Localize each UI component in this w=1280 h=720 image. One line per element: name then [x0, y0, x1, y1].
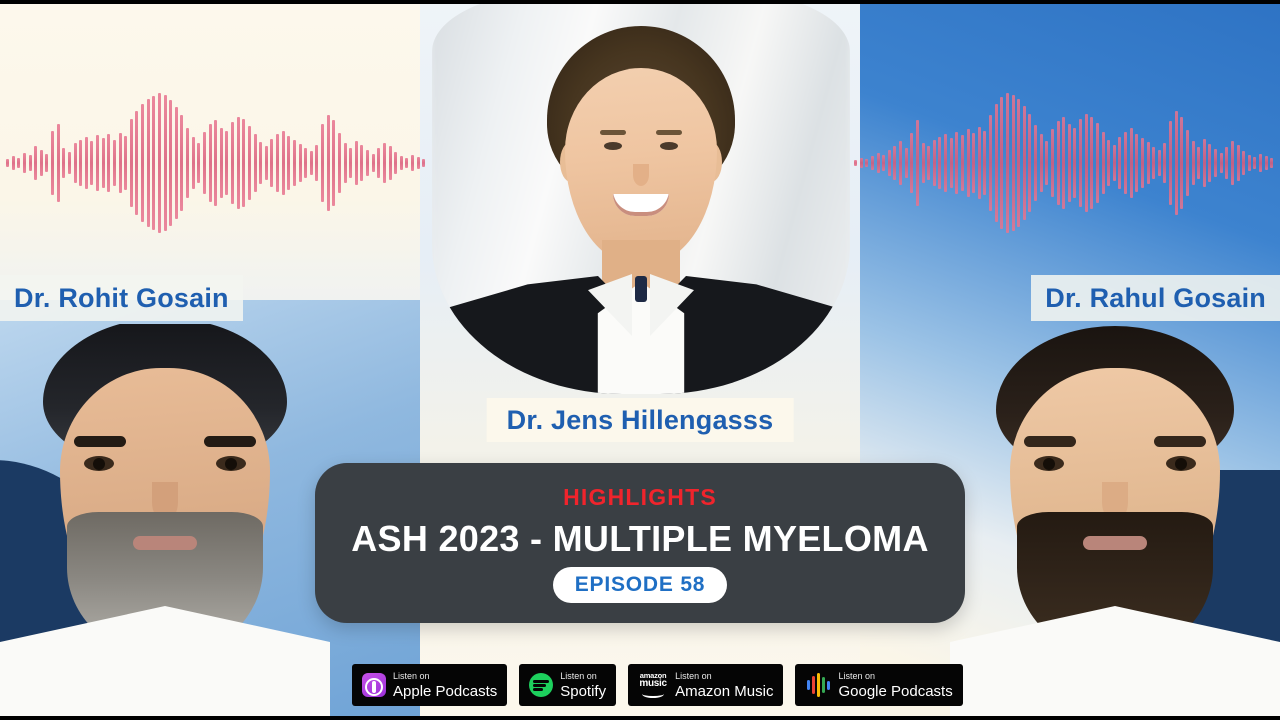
platform-name: Google Podcasts [838, 684, 952, 699]
waveform-bar [899, 141, 902, 185]
waveform-bar [916, 120, 919, 206]
waveform-bar [254, 134, 257, 192]
waveform-bar [389, 146, 392, 180]
waveform-bar [1023, 106, 1026, 220]
waveform-bar [57, 124, 60, 202]
waveform-bar [1270, 158, 1273, 168]
waveform-bar [1253, 157, 1256, 169]
listen-on-badges: Listen on Apple Podcasts Listen on Spoti… [352, 664, 963, 706]
waveform-bar [338, 133, 341, 193]
waveform-bar [141, 104, 144, 222]
waveform-bar [1259, 154, 1262, 172]
speaker-photo-right [950, 324, 1280, 720]
waveform-bar [40, 150, 43, 176]
waveform-bar [186, 128, 189, 198]
waveform-bar [1034, 125, 1037, 201]
waveform-bar [972, 133, 975, 193]
waveform-bar [1057, 121, 1060, 205]
waveform-bar [955, 132, 958, 194]
waveform-bar [270, 139, 273, 187]
waveform-bar [203, 132, 206, 194]
speaker-name-left: Dr. Rohit Gosain [0, 275, 243, 321]
amazon-music-icon: amazon music [638, 672, 668, 699]
apple-podcasts-icon [362, 673, 386, 697]
waveform-bar [1158, 150, 1161, 176]
episode-title-card: HIGHLIGHTS ASH 2023 - MULTIPLE MYELOMA E… [315, 463, 965, 623]
waveform-bar [383, 143, 386, 183]
waveform-bar [1102, 132, 1105, 194]
eyebrow-right [1154, 436, 1206, 447]
tie [635, 276, 647, 302]
waveform-bar [1163, 143, 1166, 183]
waveform-bar [400, 156, 403, 170]
waveform-bar [287, 136, 290, 190]
waveform-bar [1040, 134, 1043, 192]
amazon-smile-swoosh [642, 690, 664, 698]
waveform-bar [1085, 114, 1088, 212]
waveform-bar [888, 150, 891, 176]
mouth [1083, 536, 1147, 550]
platform-name: Apple Podcasts [393, 684, 497, 699]
waveform-bar [349, 148, 352, 178]
waveform-bar [135, 111, 138, 215]
waveform-bar [231, 122, 234, 204]
google-podcasts-badge[interactable]: Listen on Google Podcasts [795, 664, 962, 706]
eye-right [660, 142, 678, 150]
waveform-bar [372, 154, 375, 172]
waveform-bar [293, 140, 296, 186]
speaker-name-center: Dr. Jens Hillengasss [487, 398, 794, 442]
waveform-bar [1197, 147, 1200, 179]
waveform-bar [1175, 111, 1178, 215]
amazon-music-badge[interactable]: amazon music Listen on Amazon Music [628, 664, 783, 706]
waveform-bar [394, 152, 397, 174]
eye-right [1166, 456, 1196, 471]
waveform-bar [310, 151, 313, 175]
waveform-bar [1231, 141, 1234, 185]
waveform-bar [893, 146, 896, 180]
waveform-bar [164, 95, 167, 231]
waveform-bar [927, 146, 930, 180]
waveform-bar [922, 143, 925, 183]
waveform-bar [1113, 145, 1116, 181]
waveform-bar [74, 143, 77, 183]
waveform-bar [422, 159, 425, 167]
waveform-bar [877, 153, 880, 173]
waveform-bar [417, 157, 420, 169]
eye-left [1034, 456, 1064, 471]
waveform-bar [967, 129, 970, 197]
waveform-bar [147, 99, 150, 227]
waveform-bar [1130, 128, 1133, 198]
waveform-bar [6, 159, 9, 167]
waveform-bar [29, 155, 32, 171]
waveform-bar [220, 128, 223, 198]
waveform-bar [12, 156, 15, 170]
waveform-bar [983, 131, 986, 195]
waveform-bar [68, 152, 71, 174]
audio-waveform-right [854, 88, 1274, 238]
waveform-bar [299, 144, 302, 182]
waveform-bar [1006, 93, 1009, 233]
letterbox-bar-top [0, 0, 1280, 4]
amazon-logo-line2: music [639, 679, 666, 689]
waveform-bar [107, 134, 110, 192]
waveform-bar [405, 158, 408, 168]
eye-left [604, 142, 622, 150]
waveform-bar [1079, 119, 1082, 207]
spotify-badge[interactable]: Listen on Spotify [519, 664, 616, 706]
waveform-bar [1192, 141, 1195, 185]
speaker-photo-center [432, 0, 850, 394]
waveform-bar [989, 115, 992, 211]
waveform-bar [214, 120, 217, 206]
waveform-bar [282, 131, 285, 195]
waveform-bar [259, 142, 262, 184]
waveform-bar [882, 155, 885, 171]
waveform-bar [79, 140, 82, 186]
nose [633, 164, 649, 186]
waveform-bar [1096, 123, 1099, 203]
waveform-bar [1152, 147, 1155, 179]
waveform-bar [1237, 145, 1240, 181]
waveform-bar [854, 160, 857, 166]
listen-on-label: Listen on [838, 672, 952, 681]
waveform-bar [1135, 134, 1138, 192]
waveform-bar [1118, 137, 1121, 189]
spotify-icon [529, 673, 553, 697]
waveform-bar [62, 148, 65, 178]
waveform-bar [1000, 97, 1003, 229]
waveform-bar [905, 148, 908, 178]
waveform-bar [1124, 132, 1127, 194]
waveform-bar [860, 158, 863, 168]
waveform-bar [1208, 144, 1211, 182]
waveform-bar [85, 137, 88, 189]
episode-badge: EPISODE 58 [553, 567, 728, 603]
waveform-bar [158, 93, 161, 233]
mouth [133, 536, 197, 550]
waveform-bar [950, 138, 953, 188]
waveform-bar [938, 137, 941, 189]
waveform-bar [119, 133, 122, 193]
waveform-bar [332, 120, 335, 206]
page-title: ASH 2023 - MULTIPLE MYELOMA [351, 518, 929, 560]
waveform-bar [411, 155, 414, 171]
waveform-bar [377, 148, 380, 178]
waveform-bar [978, 127, 981, 199]
waveform-bar [321, 124, 324, 202]
waveform-bar [124, 136, 127, 190]
waveform-bar [304, 148, 307, 178]
waveform-bar [871, 156, 874, 170]
waveform-bar [1242, 151, 1245, 175]
waveform-bar [180, 115, 183, 211]
letterbox-bar-bottom [0, 716, 1280, 720]
waveform-bar [242, 119, 245, 207]
waveform-bar [1248, 155, 1251, 171]
waveform-bar [276, 134, 279, 192]
highlights-eyebrow: HIGHLIGHTS [563, 484, 717, 511]
waveform-bar [1028, 114, 1031, 212]
dress-shirt [950, 606, 1280, 720]
podcast-thumbnail: Dr. Rohit Gosain Dr. Jens Hillengasss Dr… [0, 0, 1280, 720]
waveform-bar [1220, 153, 1223, 173]
listen-on-label: Listen on [393, 672, 497, 681]
waveform-bar [344, 143, 347, 183]
listen-on-label: Listen on [675, 672, 773, 681]
waveform-bar [23, 153, 26, 173]
platform-name: Amazon Music [675, 684, 773, 699]
waveform-bar [113, 140, 116, 186]
waveform-bar [34, 146, 37, 180]
waveform-bar [265, 146, 268, 180]
waveform-bar [130, 119, 133, 207]
waveform-bar [910, 133, 913, 193]
waveform-bar [225, 131, 228, 195]
waveform-bar [1141, 138, 1144, 188]
waveform-bar [1147, 142, 1150, 184]
waveform-bar [1051, 129, 1054, 197]
waveform-bar [17, 158, 20, 168]
google-podcasts-icon [805, 673, 831, 697]
waveform-bar [1017, 99, 1020, 227]
waveform-bar [96, 135, 99, 191]
waveform-bar [360, 145, 363, 181]
waveform-bar [152, 96, 155, 230]
waveform-bar [1180, 117, 1183, 209]
waveform-bar [961, 135, 964, 191]
waveform-bar [315, 145, 318, 181]
waveform-bar [90, 141, 93, 185]
waveform-bar [1107, 140, 1110, 186]
waveform-bar [1068, 124, 1071, 202]
waveform-bar [1225, 147, 1228, 179]
waveform-bar [102, 138, 105, 188]
waveform-bar [45, 154, 48, 172]
speaker-photo-left [0, 324, 330, 720]
waveform-bar [248, 126, 251, 200]
waveform-bar [1169, 121, 1172, 205]
listen-on-label: Listen on [560, 672, 606, 681]
speaker-name-right: Dr. Rahul Gosain [1031, 275, 1280, 321]
waveform-bar [1265, 156, 1268, 170]
waveform-bar [1073, 128, 1076, 198]
waveform-bar [197, 143, 200, 183]
eyebrow-right [656, 130, 682, 135]
waveform-bar [1012, 95, 1015, 231]
waveform-bar [366, 150, 369, 176]
eyebrow-left [1024, 436, 1076, 447]
waveform-bar [1045, 141, 1048, 185]
waveform-bar [933, 140, 936, 186]
waveform-bar [1062, 117, 1065, 209]
waveform-bar [944, 134, 947, 192]
eyebrow-left [600, 130, 626, 135]
eye-right [216, 456, 246, 471]
waveform-bar [237, 117, 240, 209]
eyebrow-left [74, 436, 126, 447]
eye-left [84, 456, 114, 471]
waveform-bar [175, 107, 178, 219]
waveform-bar [1090, 117, 1093, 209]
waveform-bar [192, 137, 195, 189]
audio-waveform-left [6, 88, 426, 238]
dress-shirt [0, 606, 330, 720]
waveform-bar [995, 104, 998, 222]
waveform-bar [169, 100, 172, 226]
waveform-bar [865, 159, 868, 167]
eyebrow-right [204, 436, 256, 447]
platform-name: Spotify [560, 684, 606, 699]
waveform-bar [327, 115, 330, 211]
waveform-bar [1203, 139, 1206, 187]
waveform-bar [1214, 149, 1217, 177]
waveform-bar [209, 124, 212, 202]
waveform-bar [355, 141, 358, 185]
waveform-bar [51, 131, 54, 195]
waveform-bar [1186, 130, 1189, 196]
apple-podcasts-badge[interactable]: Listen on Apple Podcasts [352, 664, 507, 706]
